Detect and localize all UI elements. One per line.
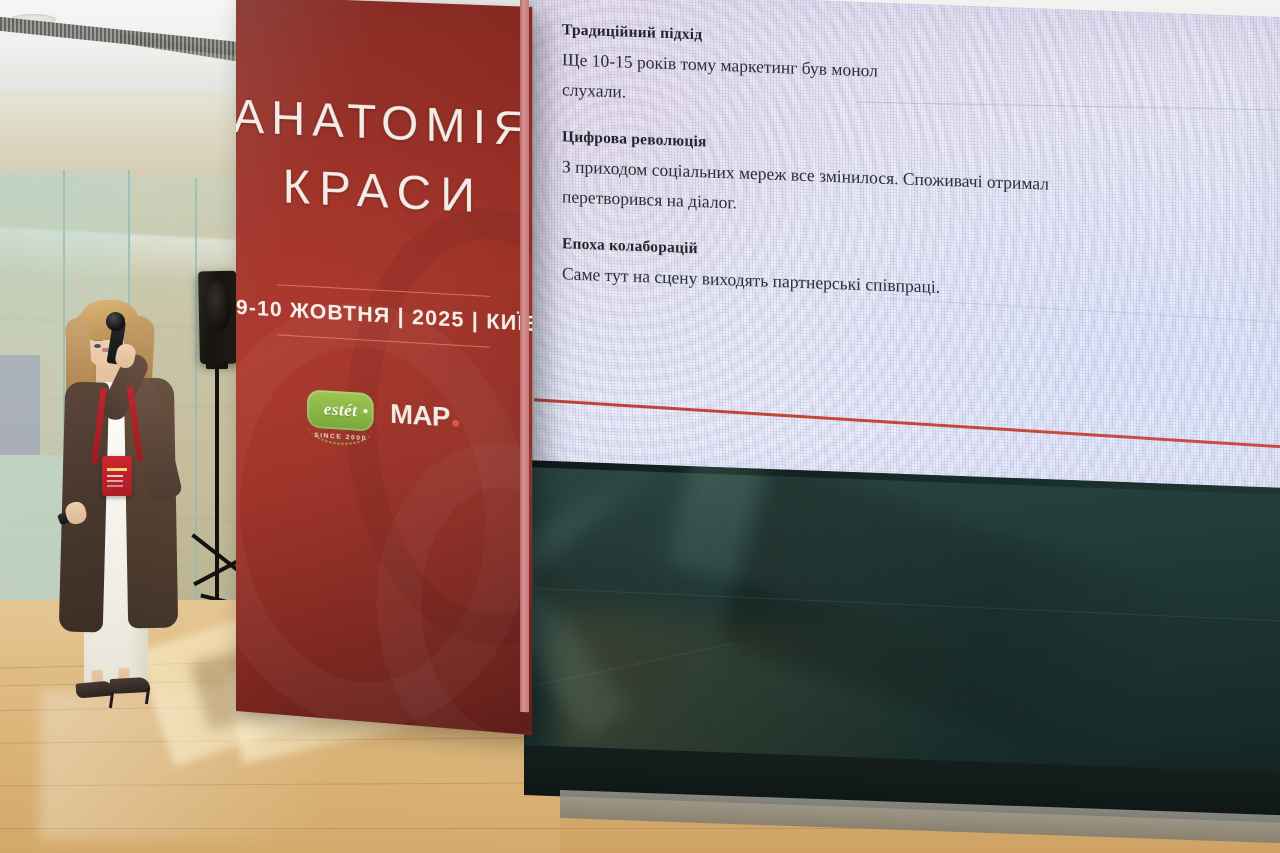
led-presentation-screen: Традиційний підхід Ще 10-15 років тому м… <box>526 0 1280 517</box>
banner-date-location: 9-10 ЖОВТНЯ | 2025 | КИЇВ <box>236 283 532 349</box>
banner-title-line-2: КРАСИ <box>236 150 532 233</box>
stage-skirt <box>524 460 1280 788</box>
banner-content: АНАТОМІЯ КРАСИ 9-10 ЖОВТНЯ | 2025 | КИЇВ… <box>236 0 532 735</box>
banner-logo-row: estét SINCE 2000 MAP <box>307 390 459 438</box>
map-logo: MAP <box>390 398 459 434</box>
banner-title: АНАТОМІЯ КРАСИ <box>236 82 532 234</box>
slide-text-content: Традиційний підхід Ще 10-15 років тому м… <box>562 21 1280 338</box>
pa-speaker <box>198 271 238 365</box>
eye <box>94 344 101 348</box>
slide-block-collaboration: Епоха колаборацій Саме тут на сцену вихо… <box>562 236 1280 315</box>
shoe <box>110 677 151 694</box>
event-banner: АНАТОМІЯ КРАСИ 9-10 ЖОВТНЯ | 2025 | КИЇВ… <box>236 0 532 735</box>
banner-title-line-1: АНАТОМІЯ <box>236 82 532 164</box>
conference-photo-scene: Традиційний підхід Ще 10-15 років тому м… <box>0 0 1280 853</box>
glass-blue-reflection <box>0 355 40 455</box>
shoe-heel <box>145 688 150 704</box>
slide-block-digital: Цифрова революція З приходом соціальних … <box>562 128 1280 237</box>
estet-logo-dot <box>364 409 368 413</box>
speaker-person <box>40 296 190 716</box>
banner-right-edge <box>520 0 529 712</box>
shoe <box>75 680 114 698</box>
event-badge <box>102 456 132 496</box>
map-logo-wordmark: MAP <box>390 398 450 432</box>
estet-logo-wordmark: estét <box>324 400 357 422</box>
shoe-heel <box>109 692 114 708</box>
map-logo-dot <box>452 419 459 427</box>
estet-logo: estét SINCE 2000 <box>307 390 374 432</box>
glass-mullion <box>195 178 197 648</box>
